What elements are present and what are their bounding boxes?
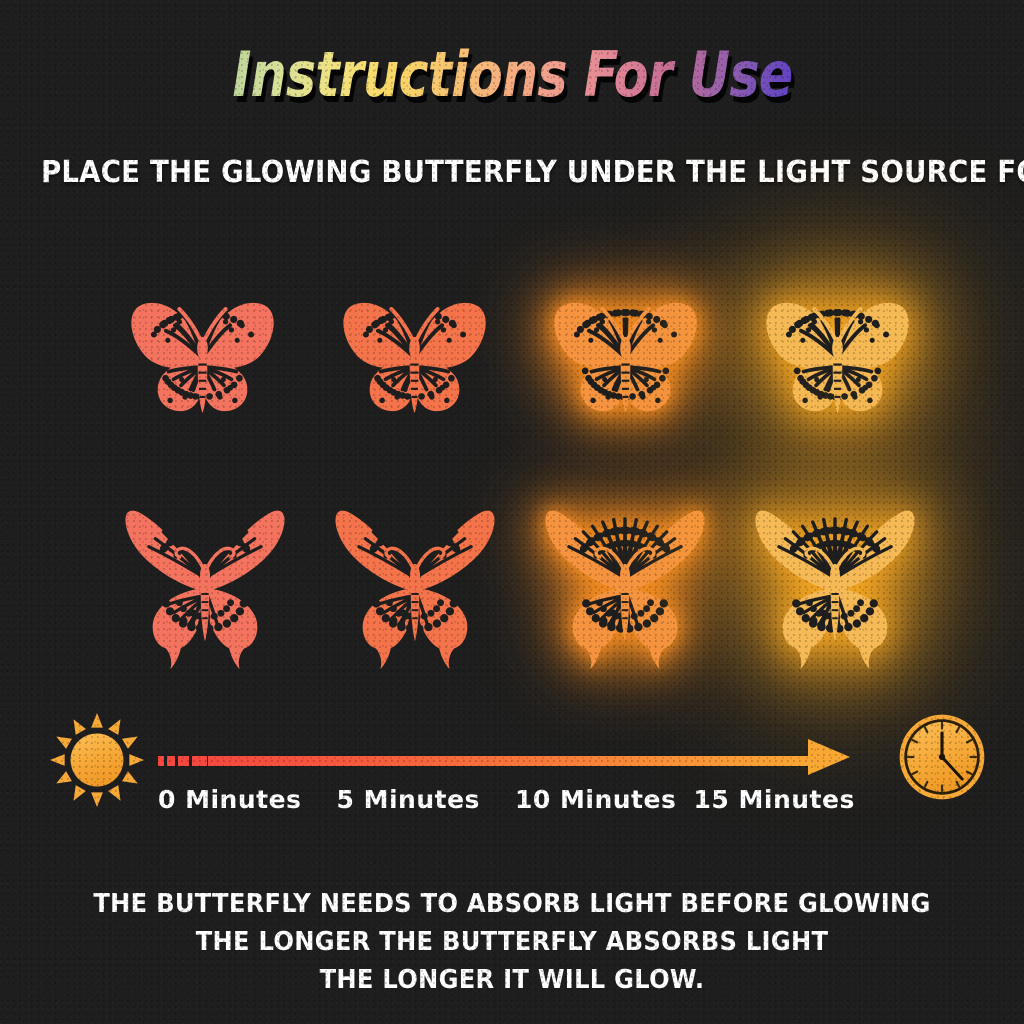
title-container: Instructions For Use [0, 38, 1024, 111]
butterfly-monarch-stage-3 [533, 283, 718, 423]
footer-line-1: THE BUTTERFLY NEEDS TO ABSORB LIGHT BEFO… [36, 885, 988, 923]
butterfly-swallowtail-stage-4 [740, 498, 930, 683]
tick-label-5: 5 Minutes [337, 785, 516, 814]
butterfly-row-top [110, 275, 930, 430]
butterfly-swallowtail-stage-2 [320, 498, 510, 683]
butterfly-monarch-stage-4 [745, 283, 930, 423]
butterfly-swallowtail-stage-1 [110, 498, 300, 683]
tick-label-0: 0 Minutes [158, 785, 337, 814]
timeline-tick-labels: 0 Minutes 5 Minutes 10 Minutes 15 Minute… [158, 785, 872, 814]
butterfly-monarch-stage-2 [322, 283, 507, 423]
footer-line-2: THE LONGER THE BUTTERFLY ABSORBS LIGHT [36, 923, 988, 961]
footer-text-block: THE BUTTERFLY NEEDS TO ABSORB LIGHT BEFO… [0, 885, 1024, 999]
progress-dashes [158, 756, 207, 766]
page-title: Instructions For Use [232, 38, 792, 111]
butterfly-monarch-stage-1 [110, 283, 295, 423]
instructions-poster: Instructions For Use PLACE THE GLOWING B… [0, 0, 1024, 1024]
footer-line-3: THE LONGER IT WILL GLOW. [36, 961, 988, 999]
tick-label-15: 15 Minutes [694, 785, 873, 814]
tick-label-10: 10 Minutes [515, 785, 694, 814]
sun-icon [48, 711, 146, 814]
clock-icon [896, 711, 988, 808]
butterfly-row-bottom [110, 500, 930, 680]
progress-arrow-track [158, 752, 872, 770]
progress-bar-fill [208, 756, 816, 766]
subtitle-instruction: PLACE THE GLOWING BUTTERFLY UNDER THE LI… [41, 155, 983, 190]
butterfly-swallowtail-stage-3 [530, 498, 720, 683]
arrow-head-icon [808, 739, 850, 775]
charge-timeline: 0 Minutes 5 Minutes 10 Minutes 15 Minute… [0, 705, 1024, 825]
